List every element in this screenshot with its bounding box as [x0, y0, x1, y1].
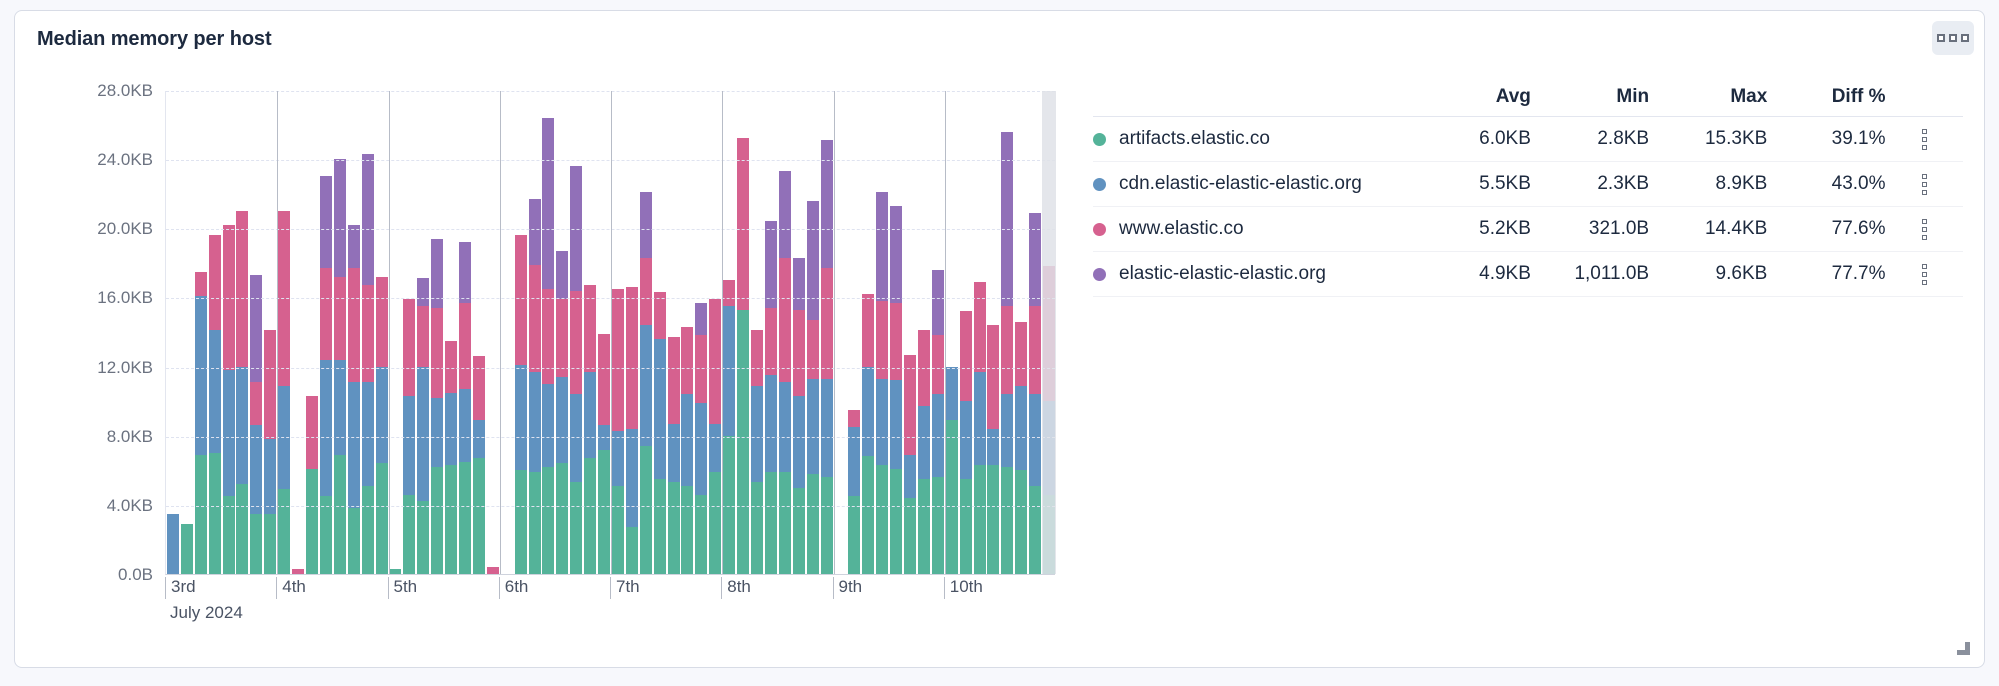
bar-segment	[654, 339, 666, 479]
bar-column[interactable]	[654, 292, 666, 574]
bar-segment	[821, 268, 833, 379]
bar-segment	[459, 242, 471, 303]
series-color-dot-icon	[1093, 178, 1106, 191]
bar-column[interactable]	[1015, 322, 1027, 574]
bar-segment	[278, 489, 290, 574]
bar-segment	[529, 372, 541, 472]
bar-segment	[1015, 386, 1027, 471]
x-axis-tick-label: 3rd	[165, 577, 196, 599]
bar-segment	[306, 396, 318, 469]
y-axis-tick-label: 20.0KB	[97, 219, 153, 239]
bar-column[interactable]	[195, 272, 207, 574]
bar-column[interactable]	[612, 289, 624, 574]
bar-segment	[376, 367, 388, 464]
series-name-cell[interactable]: artifacts.elastic.co	[1093, 128, 1413, 150]
table-row[interactable]: cdn.elastic-elastic-elastic.org5.5KB2.3K…	[1093, 162, 1963, 207]
bar-segment	[765, 472, 777, 574]
bar-segment	[445, 465, 457, 574]
row-actions-menu-icon[interactable]	[1886, 174, 1964, 195]
bar-column[interactable]	[292, 569, 304, 574]
y-axis-tick-label: 4.0KB	[107, 496, 153, 516]
bar-segment	[320, 268, 332, 360]
chart-panel: Median memory per host 28.0KB24.0KB20.0K…	[14, 10, 1985, 668]
bar-segment	[348, 508, 360, 574]
bar-column[interactable]	[529, 199, 541, 574]
bar-segment	[1001, 132, 1013, 307]
bar-segment	[209, 330, 221, 453]
bar-segment	[570, 291, 582, 395]
bar-segment	[515, 365, 527, 470]
bar-segment	[876, 465, 888, 574]
bar-column[interactable]	[376, 277, 388, 574]
bar-segment	[654, 479, 666, 574]
bar-segment	[807, 379, 819, 474]
three-dots-icon	[1922, 219, 1927, 240]
bar-segment	[376, 463, 388, 574]
bar-segment	[890, 303, 902, 381]
bar-segment	[779, 171, 791, 257]
bar-column[interactable]	[223, 225, 235, 574]
bar-segment	[779, 258, 791, 382]
bar-segment	[556, 377, 568, 463]
bar-segment	[320, 496, 332, 574]
cell-diff: 43.0%	[1767, 173, 1885, 195]
grip-squares-icon[interactable]	[1932, 21, 1974, 55]
bar-segment	[515, 235, 527, 365]
day-separator	[611, 91, 612, 574]
bar-segment	[362, 382, 374, 486]
day-separator	[834, 91, 835, 574]
bar-segment	[946, 420, 958, 574]
bar-segment	[709, 472, 721, 574]
bar-column[interactable]	[862, 294, 874, 574]
bar-segment	[723, 280, 735, 306]
bar-segment	[236, 484, 248, 574]
bar-segment	[626, 287, 638, 429]
bar-segment	[598, 450, 610, 574]
bar-column[interactable]	[459, 242, 471, 574]
row-actions-menu-icon[interactable]	[1886, 129, 1964, 150]
bar-segment	[403, 396, 415, 495]
bar-segment	[223, 370, 235, 496]
bar-segment	[723, 306, 735, 436]
row-actions-menu-icon[interactable]	[1886, 219, 1964, 240]
bar-segment	[1029, 394, 1041, 486]
x-axis: July 2024 3rd4th5th6th7th8th9th10th	[165, 577, 1055, 641]
bar-segment	[793, 488, 805, 574]
series-color-dot-icon	[1093, 133, 1106, 146]
day-separator	[945, 91, 946, 574]
bar-segment	[417, 367, 429, 502]
bar-segment	[821, 477, 833, 574]
bar-column[interactable]	[584, 285, 596, 574]
bar-column[interactable]	[723, 280, 735, 574]
bar-segment	[348, 268, 360, 382]
bar-column[interactable]	[306, 396, 318, 574]
bar-segment	[362, 154, 374, 285]
x-axis-tick-label: 9th	[833, 577, 863, 599]
resize-corner-icon[interactable]	[1956, 641, 1970, 655]
bar-column[interactable]	[987, 325, 999, 574]
bar-segment	[793, 396, 805, 488]
column-header-min[interactable]: Min	[1531, 86, 1649, 108]
bar-column[interactable]	[487, 567, 499, 574]
bar-segment	[765, 308, 777, 375]
bar-column[interactable]	[668, 337, 680, 574]
series-name-label: elastic-elastic-elastic.org	[1119, 263, 1326, 285]
grip-square	[1937, 34, 1945, 42]
bar-segment	[821, 379, 833, 478]
bar-segment	[1029, 213, 1041, 306]
cell-diff: 77.7%	[1767, 263, 1885, 285]
bar-segment	[960, 401, 972, 479]
bar-segment	[987, 325, 999, 429]
bar-column[interactable]	[681, 327, 693, 574]
bar-segment	[459, 389, 471, 462]
bar-segment	[584, 372, 596, 458]
bar-segment	[250, 514, 262, 575]
cell-avg: 5.2KB	[1413, 218, 1531, 240]
bar-column[interactable]	[640, 192, 652, 574]
bar-segment	[1001, 306, 1013, 394]
bar-segment	[793, 310, 805, 396]
bar-segment	[250, 275, 262, 382]
bar-segment	[389, 569, 401, 574]
bar-column[interactable]	[890, 206, 902, 574]
series-color-dot-icon	[1093, 268, 1106, 281]
series-name-cell[interactable]: elastic-elastic-elastic.org	[1093, 263, 1413, 285]
bar-segment	[264, 439, 276, 513]
cell-max: 14.4KB	[1649, 218, 1767, 240]
bar-segment	[570, 482, 582, 574]
chart[interactable]: 28.0KB24.0KB20.0KB16.0KB12.0KB8.0KB4.0KB…	[37, 67, 1077, 647]
bar-column[interactable]	[348, 225, 360, 574]
cell-avg: 6.0KB	[1413, 128, 1531, 150]
bar-segment	[348, 382, 360, 508]
grip-square	[1961, 34, 1969, 42]
bar-segment	[1015, 470, 1027, 574]
bar-segment	[417, 501, 429, 574]
cell-max: 15.3KB	[1649, 128, 1767, 150]
x-axis-tick-label: 5th	[388, 577, 418, 599]
bar-column[interactable]	[974, 282, 986, 574]
bar-segment	[974, 372, 986, 465]
cell-avg: 4.9KB	[1413, 263, 1531, 285]
series-name-cell[interactable]: cdn.elastic-elastic-elastic.org	[1093, 173, 1413, 195]
bar-column[interactable]	[181, 524, 193, 574]
y-axis-tick-label: 0.0B	[118, 565, 153, 585]
bar-segment	[1015, 322, 1027, 386]
column-header-max[interactable]: Max	[1649, 86, 1767, 108]
bar-segment	[779, 472, 791, 574]
bar-segment	[709, 299, 721, 423]
bar-column[interactable]	[779, 171, 791, 574]
bar-column[interactable]	[904, 355, 916, 575]
bar-segment	[737, 138, 749, 309]
bar-column[interactable]	[389, 569, 401, 574]
series-name-cell[interactable]: www.elastic.co	[1093, 218, 1413, 240]
series-name-label: cdn.elastic-elastic-elastic.org	[1119, 173, 1362, 195]
bar-column[interactable]	[960, 311, 972, 574]
bar-segment	[737, 310, 749, 574]
y-axis: 28.0KB24.0KB20.0KB16.0KB12.0KB8.0KB4.0KB…	[37, 67, 159, 569]
bar-segment	[626, 429, 638, 528]
bar-segment	[1029, 306, 1041, 394]
bar-segment	[264, 330, 276, 439]
bar-segment	[668, 424, 680, 483]
table-header-row: Avg Min Max Diff %	[1093, 77, 1963, 117]
bar-segment	[181, 524, 193, 574]
y-axis-tick-label: 8.0KB	[107, 427, 153, 447]
bar-segment	[195, 296, 207, 455]
bar-segment	[264, 514, 276, 575]
bar-segment	[459, 303, 471, 389]
bar-column[interactable]	[848, 410, 860, 574]
partial-bucket-overlay	[1042, 91, 1056, 574]
bar-segment	[668, 337, 680, 423]
day-separator	[500, 91, 501, 574]
bar-segment	[612, 431, 624, 486]
bar-segment	[598, 334, 610, 426]
bar-segment	[209, 235, 221, 330]
bar-segment	[487, 567, 499, 574]
bar-segment	[960, 479, 972, 574]
bar-segment	[751, 386, 763, 483]
cell-diff: 39.1%	[1767, 128, 1885, 150]
bar-segment	[890, 206, 902, 303]
bar-segment	[236, 211, 248, 367]
bar-column[interactable]	[167, 514, 179, 575]
bar-segment	[209, 453, 221, 574]
bar-segment	[445, 393, 457, 466]
bar-segment	[1029, 486, 1041, 574]
cell-min: 321.0B	[1531, 218, 1649, 240]
bar-segment	[918, 479, 930, 574]
bar-segment	[876, 192, 888, 301]
bar-segment	[431, 398, 443, 467]
bar-segment	[1001, 394, 1013, 467]
bar-segment	[556, 463, 568, 574]
bar-segment	[640, 258, 652, 325]
bar-segment	[848, 496, 860, 574]
series-name-label: artifacts.elastic.co	[1119, 128, 1270, 150]
bar-column[interactable]	[793, 258, 805, 574]
bar-segment	[932, 477, 944, 574]
y-axis-tick-label: 24.0KB	[97, 150, 153, 170]
bar-segment	[987, 465, 999, 574]
x-axis-tick-label: 4th	[276, 577, 306, 599]
bar-segment	[542, 118, 554, 289]
bar-segment	[570, 394, 582, 482]
column-header-diff[interactable]: Diff %	[1767, 86, 1885, 108]
bar-column[interactable]	[932, 270, 944, 574]
three-dots-icon	[1922, 174, 1927, 195]
table-row[interactable]: www.elastic.co5.2KB321.0B14.4KB77.6%	[1093, 207, 1963, 252]
day-separator	[722, 91, 723, 574]
bar-segment	[403, 299, 415, 396]
table-body: artifacts.elastic.co6.0KB2.8KB15.3KB39.1…	[1093, 117, 1963, 297]
bar-segment	[529, 199, 541, 265]
bar-segment	[890, 380, 902, 468]
bar-segment	[223, 496, 235, 574]
bar-segment	[529, 265, 541, 372]
x-axis-tick-label: 8th	[721, 577, 751, 599]
bar-segment	[320, 360, 332, 497]
bar-column[interactable]	[278, 211, 290, 574]
bar-segment	[362, 486, 374, 574]
grip-square	[1949, 34, 1957, 42]
bar-segment	[974, 465, 986, 574]
table-row[interactable]: artifacts.elastic.co6.0KB2.8KB15.3KB39.1…	[1093, 117, 1963, 162]
bar-segment	[765, 375, 777, 472]
bar-segment	[320, 176, 332, 268]
bar-segment	[918, 406, 930, 479]
bar-segment	[960, 311, 972, 401]
bar-segment	[695, 303, 707, 336]
bar-segment	[946, 367, 958, 421]
bar-segment	[542, 289, 554, 384]
bar-segment	[529, 472, 541, 574]
bar-segment	[807, 201, 819, 320]
bar-segment	[640, 446, 652, 574]
bar-segment	[695, 403, 707, 495]
bar-column[interactable]	[417, 278, 429, 574]
bar-segment	[612, 289, 624, 431]
bar-column[interactable]	[431, 239, 443, 574]
bar-segment	[751, 482, 763, 574]
bar-segment	[779, 382, 791, 472]
bar-segment	[904, 355, 916, 455]
bar-column[interactable]	[598, 334, 610, 574]
bar-segment	[932, 335, 944, 394]
bar-segment	[348, 225, 360, 268]
bar-segment	[431, 467, 443, 574]
bar-column[interactable]	[876, 192, 888, 574]
bar-column[interactable]	[626, 287, 638, 574]
bar-segment	[695, 335, 707, 402]
bar-column[interactable]	[1029, 213, 1041, 574]
bar-column[interactable]	[209, 235, 221, 574]
bar-column[interactable]	[695, 303, 707, 574]
bar-segment	[862, 367, 874, 457]
bar-segment	[932, 270, 944, 336]
bar-segment	[556, 251, 568, 299]
cell-avg: 5.5KB	[1413, 173, 1531, 195]
bar-segment	[626, 527, 638, 574]
bar-column[interactable]	[765, 221, 777, 574]
cell-min: 2.8KB	[1531, 128, 1649, 150]
bar-segment	[167, 514, 179, 575]
bar-segment	[681, 394, 693, 486]
bar-segment	[250, 425, 262, 513]
plot-area[interactable]	[165, 91, 1055, 575]
bar-segment	[681, 486, 693, 574]
x-axis-sublabel: July 2024	[170, 603, 243, 623]
bar-segment	[793, 258, 805, 310]
page-title: Median memory per host	[37, 28, 272, 51]
x-axis-tick-label: 10th	[944, 577, 983, 599]
bar-segment	[681, 327, 693, 394]
cell-max: 9.6KB	[1649, 263, 1767, 285]
row-actions-menu-icon[interactable]	[1886, 264, 1964, 285]
bar-segment	[542, 384, 554, 467]
cell-min: 1,011.0B	[1531, 263, 1649, 285]
bar-segment	[334, 277, 346, 360]
bar-column[interactable]	[807, 201, 819, 574]
bar-segment	[556, 299, 568, 377]
bar-segment	[987, 429, 999, 465]
bar-segment	[890, 469, 902, 574]
cell-min: 2.3KB	[1531, 173, 1649, 195]
bar-segment	[612, 486, 624, 574]
bar-column[interactable]	[570, 166, 582, 574]
bar-column[interactable]	[946, 367, 958, 574]
bar-segment	[904, 498, 916, 574]
bar-column[interactable]	[320, 176, 332, 574]
bar-segment	[668, 482, 680, 574]
bar-segment	[376, 277, 388, 367]
bar-column[interactable]	[236, 211, 248, 574]
series-name-label: www.elastic.co	[1119, 218, 1244, 240]
bar-segment	[473, 420, 485, 458]
bar-column[interactable]	[362, 154, 374, 574]
bar-segment	[292, 569, 304, 574]
bar-segment	[807, 320, 819, 379]
column-header-avg[interactable]: Avg	[1413, 86, 1531, 108]
bar-segment	[862, 294, 874, 367]
y-axis-tick-label: 12.0KB	[97, 358, 153, 378]
legend-table: Avg Min Max Diff % artifacts.elastic.co6…	[1093, 77, 1963, 297]
bar-segment	[250, 382, 262, 425]
bar-column[interactable]	[445, 341, 457, 574]
bar-segment	[195, 272, 207, 296]
bar-column[interactable]	[1001, 132, 1013, 574]
bar-segment	[334, 455, 346, 574]
day-separator	[277, 91, 278, 574]
bar-segment	[584, 458, 596, 574]
table-row[interactable]: elastic-elastic-elastic.org4.9KB1,011.0B…	[1093, 252, 1963, 297]
bar-segment	[765, 221, 777, 307]
y-axis-tick-label: 16.0KB	[97, 288, 153, 308]
bar-column[interactable]	[515, 235, 527, 574]
bar-segment	[751, 330, 763, 385]
bar-segment	[1001, 467, 1013, 574]
bar-segment	[236, 367, 248, 485]
bar-segment	[807, 474, 819, 574]
bar-segment	[974, 282, 986, 372]
bar-column[interactable]	[737, 138, 749, 574]
bar-segment	[417, 278, 429, 306]
bar-segment	[431, 308, 443, 398]
cell-max: 8.9KB	[1649, 173, 1767, 195]
bar-segment	[459, 462, 471, 574]
bar-column[interactable]	[250, 275, 262, 574]
bar-segment	[904, 455, 916, 498]
three-dots-icon	[1922, 264, 1927, 285]
bar-segment	[473, 356, 485, 420]
bar-segment	[848, 410, 860, 427]
panel-header: Median memory per host	[15, 11, 1984, 67]
cell-diff: 77.6%	[1767, 218, 1885, 240]
day-separator	[389, 91, 390, 574]
bar-column[interactable]	[821, 140, 833, 574]
bar-segment	[640, 192, 652, 258]
bar-column[interactable]	[473, 356, 485, 574]
bar-segment	[334, 159, 346, 277]
bar-segment	[306, 469, 318, 574]
bar-segment	[417, 306, 429, 367]
bar-segment	[640, 325, 652, 446]
